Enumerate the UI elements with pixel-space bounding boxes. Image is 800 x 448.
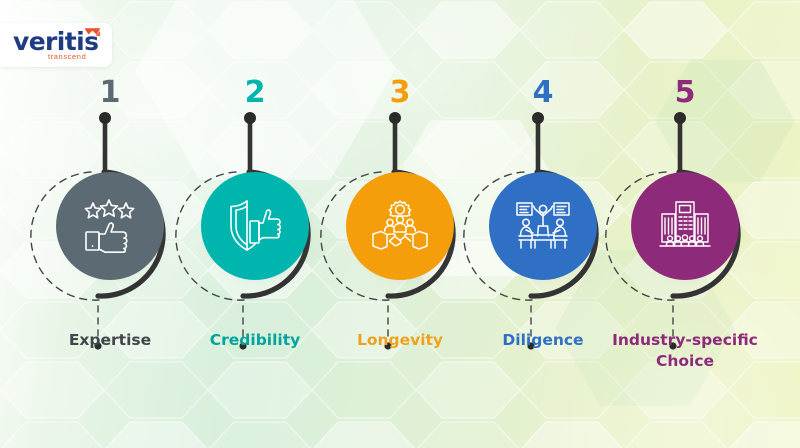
step-label-5: Industry-specific Choice <box>600 330 770 372</box>
step-number-4: 4 <box>468 78 618 108</box>
step-4[interactable]: 4 <box>468 0 618 448</box>
office-building-people-icon <box>658 200 712 252</box>
circle-face <box>631 172 739 280</box>
meeting-presentation-icon <box>515 200 571 252</box>
infographic-canvas: veritis transcend 1 <box>0 0 800 448</box>
handshake-team-icon <box>371 199 429 253</box>
circle-face <box>346 172 454 280</box>
veritis-logo[interactable]: veritis transcend <box>0 23 112 67</box>
step-icon-circle-2[interactable] <box>201 172 309 280</box>
step-5[interactable]: 5 <box>610 0 760 448</box>
step-number-3: 3 <box>325 78 475 108</box>
step-number-1: 1 <box>35 78 185 108</box>
step-2[interactable]: 2 <box>180 0 330 448</box>
step-3[interactable]: 3 <box>325 0 475 448</box>
step-icon-circle-3[interactable] <box>346 172 454 280</box>
step-number-2: 2 <box>180 78 330 108</box>
shield-thumbs-up-icon <box>227 199 283 253</box>
thumbs-up-stars-icon <box>81 199 139 253</box>
circle-face <box>201 172 309 280</box>
logo-tagline: transcend <box>48 53 86 61</box>
step-icon-circle-1[interactable] <box>56 172 164 280</box>
step-icon-circle-4[interactable] <box>489 172 597 280</box>
circle-face <box>56 172 164 280</box>
logo-chevron-mark <box>84 27 101 40</box>
circle-face <box>489 172 597 280</box>
step-number-5: 5 <box>610 78 760 108</box>
step-icon-circle-5[interactable] <box>631 172 739 280</box>
step-1[interactable]: 1 <box>35 0 185 448</box>
